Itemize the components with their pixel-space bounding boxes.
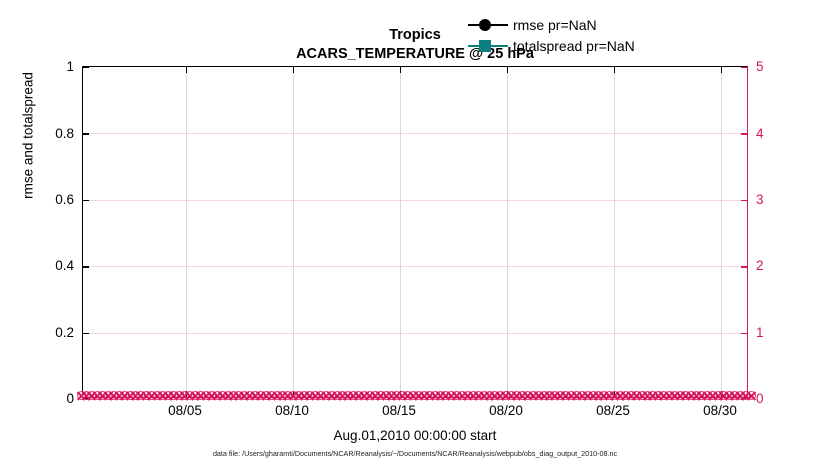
obs-assimilated-marker — [381, 390, 392, 401]
ytick-right-5: 5 — [756, 59, 796, 74]
obs-possible-marker — [115, 391, 124, 400]
obs-assimilated-marker — [724, 390, 735, 401]
obs-assimilated-marker — [108, 390, 119, 401]
obs-possible-marker — [490, 391, 499, 400]
obs-assimilated-marker — [566, 390, 577, 401]
obs-possible-marker — [616, 391, 625, 400]
gridline-vertical — [507, 67, 508, 397]
obs-assimilated-marker — [348, 390, 359, 401]
obs-assimilated-marker — [424, 390, 435, 401]
tick-mark-right — [741, 333, 747, 334]
obs-assimilated-marker — [462, 390, 473, 401]
obs-assimilated-marker — [615, 390, 626, 401]
chart-legend: rmse pr=NaN totalspread pr=NaN — [466, 14, 635, 56]
data-file-caption: data file: /Users/gharamti/Documents/NCA… — [0, 449, 830, 458]
obs-possible-marker — [747, 391, 756, 400]
obs-assimilated-marker — [168, 390, 179, 401]
obs-assimilated-marker — [261, 390, 272, 401]
obs-possible-marker — [648, 391, 657, 400]
obs-assimilated-marker — [266, 390, 277, 401]
obs-assimilated-marker — [206, 390, 217, 401]
obs-assimilated-marker — [114, 390, 125, 401]
obs-assimilated-marker — [658, 390, 669, 401]
square-marker-icon — [479, 40, 491, 52]
obs-assimilated-marker — [653, 390, 664, 401]
obs-possible-marker — [599, 391, 608, 400]
gridline-horizontal — [83, 200, 747, 201]
xtick-label-2: 08/15 — [359, 403, 439, 418]
obs-assimilated-marker — [201, 390, 212, 401]
obs-possible-marker — [420, 391, 429, 400]
obs-possible-marker — [278, 391, 287, 400]
obs-possible-marker — [376, 391, 385, 400]
obs-possible-marker — [474, 391, 483, 400]
obs-assimilated-marker — [664, 390, 675, 401]
obs-assimilated-marker — [746, 390, 757, 401]
obs-possible-marker — [561, 391, 570, 400]
obs-assimilated-marker — [517, 390, 528, 401]
chart-subtitle: ACARS_TEMPERATURE @ 25 hPa — [0, 45, 830, 64]
obs-possible-marker — [458, 391, 467, 400]
obs-assimilated-marker — [76, 390, 87, 401]
obs-assimilated-marker — [81, 390, 92, 401]
obs-possible-marker — [670, 391, 679, 400]
obs-possible-marker — [333, 391, 342, 400]
xtick-label-0: 08/05 — [145, 403, 225, 418]
obs-possible-marker — [300, 391, 309, 400]
obs-possible-marker — [534, 391, 543, 400]
circle-marker-icon — [479, 19, 491, 31]
tick-mark-top — [614, 67, 615, 73]
obs-possible-marker — [213, 391, 222, 400]
obs-assimilated-marker — [560, 390, 571, 401]
obs-assimilated-marker — [718, 390, 729, 401]
obs-possible-marker — [164, 391, 173, 400]
obs-assimilated-marker — [593, 390, 604, 401]
obs-assimilated-marker — [146, 390, 157, 401]
obs-possible-marker — [120, 391, 129, 400]
obs-possible-marker — [436, 391, 445, 400]
obs-assimilated-marker — [190, 390, 201, 401]
gridline-horizontal — [83, 133, 747, 134]
obs-marker-strip — [83, 388, 747, 404]
obs-assimilated-marker — [402, 390, 413, 401]
obs-assimilated-marker — [500, 390, 511, 401]
ytick-right-2: 2 — [756, 258, 796, 273]
obs-assimilated-marker — [451, 390, 462, 401]
obs-assimilated-marker — [103, 390, 114, 401]
xtick-label-3: 08/20 — [466, 403, 546, 418]
obs-possible-marker — [327, 391, 336, 400]
obs-assimilated-marker — [707, 390, 718, 401]
tick-mark-right — [741, 67, 747, 68]
obs-possible-marker — [316, 391, 325, 400]
obs-assimilated-marker — [375, 390, 386, 401]
gridline-vertical — [614, 67, 615, 397]
obs-assimilated-marker — [729, 390, 740, 401]
obs-assimilated-marker — [272, 390, 283, 401]
legend-label-totalspread: totalspread pr=NaN — [510, 38, 635, 54]
obs-possible-marker — [218, 391, 227, 400]
obs-possible-marker — [245, 391, 254, 400]
ytick-right-0: 0 — [756, 391, 796, 406]
obs-assimilated-marker — [255, 390, 266, 401]
obs-possible-marker — [283, 391, 292, 400]
obs-possible-marker — [697, 391, 706, 400]
obs-possible-marker — [523, 391, 532, 400]
obs-assimilated-marker — [642, 390, 653, 401]
obs-assimilated-marker — [539, 390, 550, 401]
tick-mark-bottom — [293, 391, 294, 397]
obs-possible-marker — [452, 391, 461, 400]
tick-mark-bottom — [186, 391, 187, 397]
gridline-vertical — [186, 67, 187, 397]
obs-assimilated-marker — [370, 390, 381, 401]
obs-possible-marker — [583, 391, 592, 400]
obs-possible-marker — [240, 391, 249, 400]
obs-possible-marker — [469, 391, 478, 400]
obs-assimilated-marker — [555, 390, 566, 401]
obs-possible-marker — [354, 391, 363, 400]
obs-assimilated-marker — [157, 390, 168, 401]
obs-assimilated-marker — [637, 390, 648, 401]
obs-possible-marker — [414, 391, 423, 400]
tick-mark-right — [741, 133, 747, 134]
tick-mark-bottom — [721, 391, 722, 397]
obs-assimilated-marker — [484, 390, 495, 401]
obs-possible-marker — [681, 391, 690, 400]
obs-possible-marker — [550, 391, 559, 400]
obs-assimilated-marker — [321, 390, 332, 401]
obs-assimilated-marker — [626, 390, 637, 401]
tick-mark-left — [83, 398, 89, 399]
obs-possible-marker — [518, 391, 527, 400]
obs-possible-marker — [196, 391, 205, 400]
obs-possible-marker — [136, 391, 145, 400]
obs-assimilated-marker — [582, 390, 593, 401]
obs-assimilated-marker — [740, 390, 751, 401]
obs-possible-marker — [256, 391, 265, 400]
obs-possible-marker — [229, 391, 238, 400]
obs-possible-marker — [322, 391, 331, 400]
obs-assimilated-marker — [174, 390, 185, 401]
obs-possible-marker — [131, 391, 140, 400]
obs-assimilated-marker — [359, 390, 370, 401]
ytick-right-1: 1 — [756, 325, 796, 340]
obs-possible-marker — [305, 391, 314, 400]
obs-possible-marker — [311, 391, 320, 400]
obs-assimilated-marker — [119, 390, 130, 401]
obs-possible-marker — [512, 391, 521, 400]
obs-possible-marker — [441, 391, 450, 400]
obs-possible-marker — [180, 391, 189, 400]
obs-possible-marker — [676, 391, 685, 400]
obs-assimilated-marker — [457, 390, 468, 401]
obs-assimilated-marker — [479, 390, 490, 401]
tick-mark-bottom — [614, 391, 615, 397]
ytick-right-4: 4 — [756, 126, 796, 141]
legend-item-rmse: rmse pr=NaN — [466, 14, 635, 35]
obs-assimilated-marker — [244, 390, 255, 401]
obs-possible-marker — [262, 391, 271, 400]
xtick-label-4: 08/25 — [573, 403, 653, 418]
obs-possible-marker — [692, 391, 701, 400]
tick-mark-left — [83, 333, 89, 334]
obs-assimilated-marker — [430, 390, 441, 401]
obs-possible-marker — [703, 391, 712, 400]
xtick-label-1: 08/10 — [252, 403, 332, 418]
obs-assimilated-marker — [647, 390, 658, 401]
obs-assimilated-marker — [163, 390, 174, 401]
obs-possible-marker — [267, 391, 276, 400]
obs-assimilated-marker — [228, 390, 239, 401]
obs-possible-marker — [463, 391, 472, 400]
obs-assimilated-marker — [598, 390, 609, 401]
obs-possible-marker — [589, 391, 598, 400]
obs-assimilated-marker — [544, 390, 555, 401]
obs-possible-marker — [175, 391, 184, 400]
obs-assimilated-marker — [680, 390, 691, 401]
obs-possible-marker — [147, 391, 156, 400]
obs-assimilated-marker — [686, 390, 697, 401]
ytick-left-1: 0.2 — [14, 325, 74, 340]
obs-possible-marker — [169, 391, 178, 400]
tick-mark-top — [507, 67, 508, 73]
obs-possible-marker — [627, 391, 636, 400]
obs-assimilated-marker — [446, 390, 457, 401]
obs-possible-marker — [638, 391, 647, 400]
obs-assimilated-marker — [315, 390, 326, 401]
obs-assimilated-marker — [152, 390, 163, 401]
tick-mark-right — [741, 266, 747, 267]
obs-possible-marker — [687, 391, 696, 400]
obs-possible-marker — [382, 391, 391, 400]
obs-assimilated-marker — [97, 390, 108, 401]
obs-assimilated-marker — [413, 390, 424, 401]
legend-label-rmse: rmse pr=NaN — [510, 17, 597, 33]
obs-assimilated-marker — [125, 390, 136, 401]
obs-possible-marker — [409, 391, 418, 400]
tick-mark-left — [83, 200, 89, 201]
tick-mark-top — [721, 67, 722, 73]
obs-possible-marker — [360, 391, 369, 400]
tick-mark-right — [741, 398, 747, 399]
gridline-horizontal — [83, 333, 747, 334]
obs-possible-marker — [431, 391, 440, 400]
obs-possible-marker — [540, 391, 549, 400]
obs-possible-marker — [529, 391, 538, 400]
obs-possible-marker — [403, 391, 412, 400]
obs-possible-marker — [496, 391, 505, 400]
obs-assimilated-marker — [239, 390, 250, 401]
obs-assimilated-marker — [468, 390, 479, 401]
obs-possible-marker — [654, 391, 663, 400]
tick-mark-left — [83, 133, 89, 134]
obs-possible-marker — [447, 391, 456, 400]
obs-possible-marker — [621, 391, 630, 400]
obs-assimilated-marker — [342, 390, 353, 401]
obs-assimilated-marker — [440, 390, 451, 401]
obs-possible-marker — [578, 391, 587, 400]
obs-possible-marker — [93, 391, 102, 400]
obs-possible-marker — [501, 391, 510, 400]
obs-possible-marker — [725, 391, 734, 400]
gridline-horizontal — [83, 266, 747, 267]
obs-possible-marker — [104, 391, 113, 400]
obs-assimilated-marker — [299, 390, 310, 401]
obs-possible-marker — [126, 391, 135, 400]
xtick-label-5: 08/30 — [680, 403, 760, 418]
obs-possible-marker — [191, 391, 200, 400]
obs-possible-marker — [207, 391, 216, 400]
obs-assimilated-marker — [223, 390, 234, 401]
obs-assimilated-marker — [675, 390, 686, 401]
obs-assimilated-marker — [577, 390, 588, 401]
obs-possible-marker — [485, 391, 494, 400]
obs-assimilated-marker — [195, 390, 206, 401]
obs-assimilated-marker — [364, 390, 375, 401]
tick-mark-top — [400, 67, 401, 73]
y-axis-title-left: rmse and totalspread — [21, 6, 36, 266]
chart-title-block: Tropics ACARS_TEMPERATURE @ 25 hPa — [0, 26, 830, 64]
obs-possible-marker — [202, 391, 211, 400]
obs-assimilated-marker — [435, 390, 446, 401]
obs-assimilated-marker — [332, 390, 343, 401]
obs-assimilated-marker — [179, 390, 190, 401]
obs-assimilated-marker — [735, 390, 746, 401]
x-axis-title: Aug.01,2010 00:00:00 start — [0, 428, 830, 443]
obs-possible-marker — [365, 391, 374, 400]
obs-assimilated-marker — [326, 390, 337, 401]
tick-mark-top — [186, 67, 187, 73]
ytick-right-3: 3 — [756, 192, 796, 207]
obs-assimilated-marker — [250, 390, 261, 401]
obs-possible-marker — [142, 391, 151, 400]
obs-assimilated-marker — [408, 390, 419, 401]
obs-possible-marker — [234, 391, 243, 400]
obs-assimilated-marker — [141, 390, 152, 401]
obs-assimilated-marker — [304, 390, 315, 401]
obs-possible-marker — [605, 391, 614, 400]
legend-item-totalspread: totalspread pr=NaN — [466, 35, 635, 56]
obs-assimilated-marker — [588, 390, 599, 401]
tick-mark-bottom — [507, 391, 508, 397]
obs-possible-marker — [556, 391, 565, 400]
tick-mark-left — [83, 266, 89, 267]
obs-assimilated-marker — [86, 390, 97, 401]
obs-possible-marker — [659, 391, 668, 400]
tick-mark-left — [83, 67, 89, 68]
obs-possible-marker — [224, 391, 233, 400]
obs-assimilated-marker — [277, 390, 288, 401]
obs-assimilated-marker — [669, 390, 680, 401]
tick-mark-top — [293, 67, 294, 73]
obs-assimilated-marker — [217, 390, 228, 401]
obs-possible-marker — [572, 391, 581, 400]
obs-possible-marker — [251, 391, 260, 400]
obs-assimilated-marker — [696, 390, 707, 401]
obs-assimilated-marker — [533, 390, 544, 401]
obs-assimilated-marker — [212, 390, 223, 401]
obs-possible-marker — [98, 391, 107, 400]
obs-possible-marker — [632, 391, 641, 400]
obs-assimilated-marker — [397, 390, 408, 401]
obs-assimilated-marker — [631, 390, 642, 401]
obs-possible-marker — [594, 391, 603, 400]
obs-possible-marker — [158, 391, 167, 400]
obs-possible-marker — [153, 391, 162, 400]
obs-assimilated-marker — [522, 390, 533, 401]
obs-possible-marker — [343, 391, 352, 400]
obs-assimilated-marker — [419, 390, 430, 401]
obs-possible-marker — [109, 391, 118, 400]
obs-assimilated-marker — [473, 390, 484, 401]
gridline-vertical — [293, 67, 294, 397]
obs-possible-marker — [294, 391, 303, 400]
obs-assimilated-marker — [691, 390, 702, 401]
obs-possible-marker — [545, 391, 554, 400]
obs-assimilated-marker — [233, 390, 244, 401]
tick-mark-right — [741, 200, 747, 201]
obs-assimilated-marker — [702, 390, 713, 401]
obs-assimilated-marker — [337, 390, 348, 401]
legend-swatch-totalspread — [466, 37, 510, 55]
obs-possible-marker — [273, 391, 282, 400]
obs-assimilated-marker — [528, 390, 539, 401]
obs-possible-marker — [567, 391, 576, 400]
obs-assimilated-marker — [293, 390, 304, 401]
obs-assimilated-marker — [386, 390, 397, 401]
obs-possible-marker — [387, 391, 396, 400]
gridline-vertical — [721, 67, 722, 397]
obs-possible-marker — [730, 391, 739, 400]
obs-assimilated-marker — [549, 390, 560, 401]
obs-possible-marker — [425, 391, 434, 400]
obs-possible-marker — [665, 391, 674, 400]
obs-assimilated-marker — [620, 390, 631, 401]
obs-assimilated-marker — [353, 390, 364, 401]
obs-assimilated-marker — [571, 390, 582, 401]
figure-canvas: Tropics ACARS_TEMPERATURE @ 25 hPa rmse … — [0, 0, 830, 470]
obs-possible-marker — [643, 391, 652, 400]
gridline-vertical — [400, 67, 401, 397]
page-title: Tropics — [0, 26, 830, 45]
tick-mark-bottom — [400, 391, 401, 397]
obs-possible-marker — [708, 391, 717, 400]
obs-possible-marker — [480, 391, 489, 400]
obs-assimilated-marker — [130, 390, 141, 401]
obs-assimilated-marker — [489, 390, 500, 401]
obs-possible-marker — [371, 391, 380, 400]
legend-swatch-rmse — [466, 16, 510, 34]
obs-assimilated-marker — [282, 390, 293, 401]
obs-possible-marker — [338, 391, 347, 400]
ytick-left-0: 0 — [14, 391, 74, 406]
obs-possible-marker — [349, 391, 358, 400]
obs-assimilated-marker — [511, 390, 522, 401]
obs-assimilated-marker — [135, 390, 146, 401]
obs-assimilated-marker — [310, 390, 321, 401]
plot-area — [82, 66, 748, 398]
obs-assimilated-marker — [495, 390, 506, 401]
obs-assimilated-marker — [92, 390, 103, 401]
